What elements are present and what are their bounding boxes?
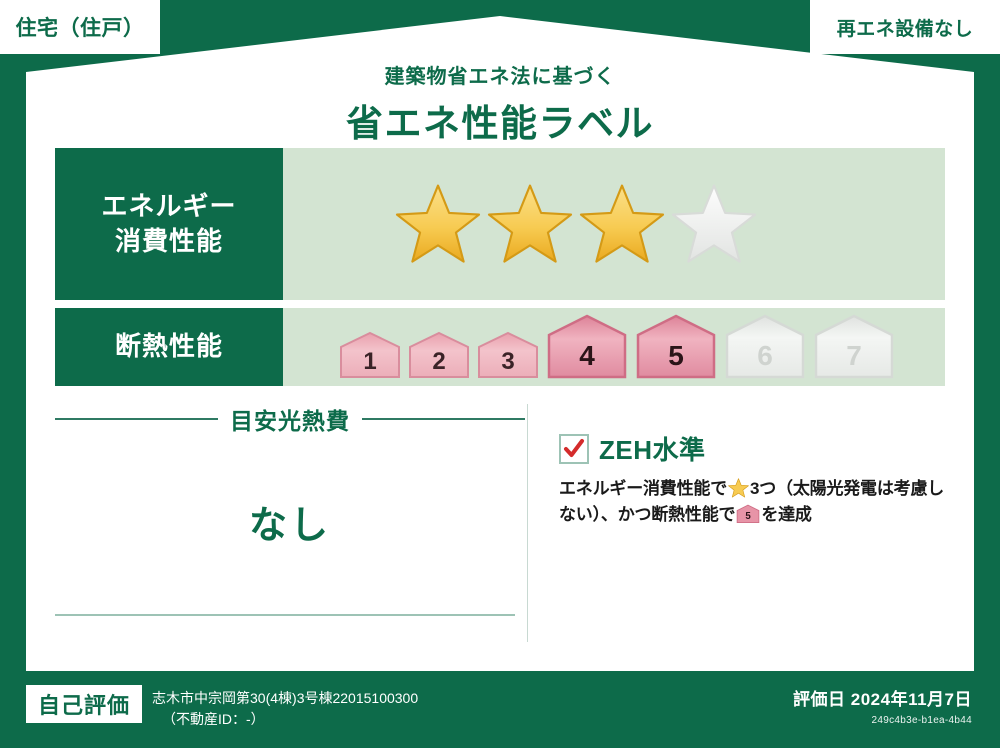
evaluation-date: 評価日 2024年11月7日 [793, 685, 972, 710]
insulation-level-number: 1 [363, 348, 376, 375]
insulation-performance-row: 断熱性能 1 2 [55, 308, 945, 386]
energy-performance-label: エネルギー 消費性能 [55, 148, 283, 300]
self-evaluation-badge: 自己評価 [26, 685, 142, 723]
energy-performance-label-card: 住宅（住戸） 再エネ設備なし 建築物省エネ法に基づく 省エネ性能ラベル エネルギ… [0, 0, 1000, 748]
star-filled-icon [395, 183, 481, 265]
badge-building-type: 住宅（住戸） [0, 0, 160, 54]
utility-cost-title: 目安光熱費 [230, 402, 350, 436]
insulation-house-icon-6: 6 [723, 313, 807, 381]
insulation-performance-label-text: 断熱性能 [115, 329, 223, 364]
star-rating [395, 183, 757, 265]
house-inline-level: 5 [746, 511, 752, 522]
insulation-house-icon-2: 2 [407, 329, 471, 381]
insulation-house-icon-4: 4 [545, 313, 629, 381]
utility-cost-body: なし [55, 436, 525, 626]
insulation-performance-label: 断熱性能 [55, 308, 283, 386]
evaluation-uuid: 249c4b3e-b1ea-4b44 [793, 715, 972, 726]
utility-cost-value: なし [55, 494, 525, 549]
house-inline-icon: 5 [736, 504, 760, 524]
insulation-level-number: 7 [846, 340, 862, 371]
star-filled-icon [487, 183, 573, 265]
insulation-house-icon-5: 5 [634, 313, 718, 381]
insulation-level-scale: 1 2 3 4 [338, 313, 896, 381]
badge-building-type-label: 住宅（住戸） [16, 12, 145, 42]
insulation-level-number: 6 [757, 340, 773, 371]
insulation-performance-value: 1 2 3 4 [283, 308, 945, 386]
utility-cost-section: 目安光熱費 なし ZEH水準 エネルギー消費性能で3 [55, 402, 945, 664]
zeh-description: エネルギー消費性能で3つ（太陽光発電は考慮しない）、かつ断熱性能で5を達成 [559, 476, 959, 529]
badge-renewable-energy: 再エネ設備なし [810, 0, 1000, 54]
footer-left: 自己評価 志木市中宗岡第30(4棟)3号棟22015100300 （不動産ID：… [26, 685, 418, 730]
insulation-level-number: 5 [668, 340, 684, 371]
section-vertical-divider [527, 404, 528, 642]
badge-renewable-energy-label: 再エネ設備なし [837, 14, 974, 41]
rule-left [55, 418, 218, 420]
title-subtitle: 建築物省エネ法に基づく [0, 60, 1000, 89]
zeh-header: ZEH水準 [559, 430, 959, 467]
property-address-block: 志木市中宗岡第30(4棟)3号棟22015100300 （不動産ID：-） [152, 685, 418, 730]
star-inline-icon [728, 478, 749, 498]
zeh-standard-block: ZEH水準 エネルギー消費性能で3つ（太陽光発電は考慮しない）、かつ断熱性能で5… [559, 430, 959, 529]
rule-right [362, 418, 525, 420]
insulation-house-icon-3: 3 [476, 329, 540, 381]
energy-performance-value [283, 148, 945, 300]
evaluation-date-value: 2024年11月7日 [851, 690, 972, 709]
title-main: 省エネ性能ラベル [0, 93, 1000, 147]
energy-performance-row: エネルギー 消費性能 [55, 148, 945, 300]
label-content: エネルギー 消費性能 [31, 148, 969, 666]
insulation-house-icon-1: 1 [338, 329, 402, 381]
footer-right: 評価日 2024年11月7日 249c4b3e-b1ea-4b44 [793, 685, 972, 726]
utility-cost-divider [55, 614, 515, 616]
property-address: 志木市中宗岡第30(4棟)3号棟22015100300 [152, 690, 418, 706]
star-empty-icon [671, 183, 757, 265]
insulation-level-number: 4 [579, 340, 595, 371]
label-title-block: 建築物省エネ法に基づく 省エネ性能ラベル [0, 60, 1000, 147]
star-filled-icon [579, 183, 665, 265]
insulation-level-number: 2 [432, 348, 445, 375]
zeh-title: ZEH水準 [599, 430, 706, 467]
insulation-level-number: 3 [501, 348, 514, 375]
property-id: （不動産ID：-） [162, 711, 265, 727]
energy-performance-label-line1: エネルギー [101, 189, 236, 224]
insulation-house-icon-7: 7 [812, 313, 896, 381]
zeh-desc-part1: エネルギー消費性能で [559, 479, 727, 498]
zeh-checkbox-checked-icon [559, 434, 589, 464]
label-footer: 自己評価 志木市中宗岡第30(4棟)3号棟22015100300 （不動産ID：… [0, 671, 1000, 748]
evaluation-date-label: 評価日 [793, 690, 846, 709]
zeh-desc-part3: を達成 [761, 505, 811, 524]
energy-performance-label-line2: 消費性能 [115, 224, 223, 259]
